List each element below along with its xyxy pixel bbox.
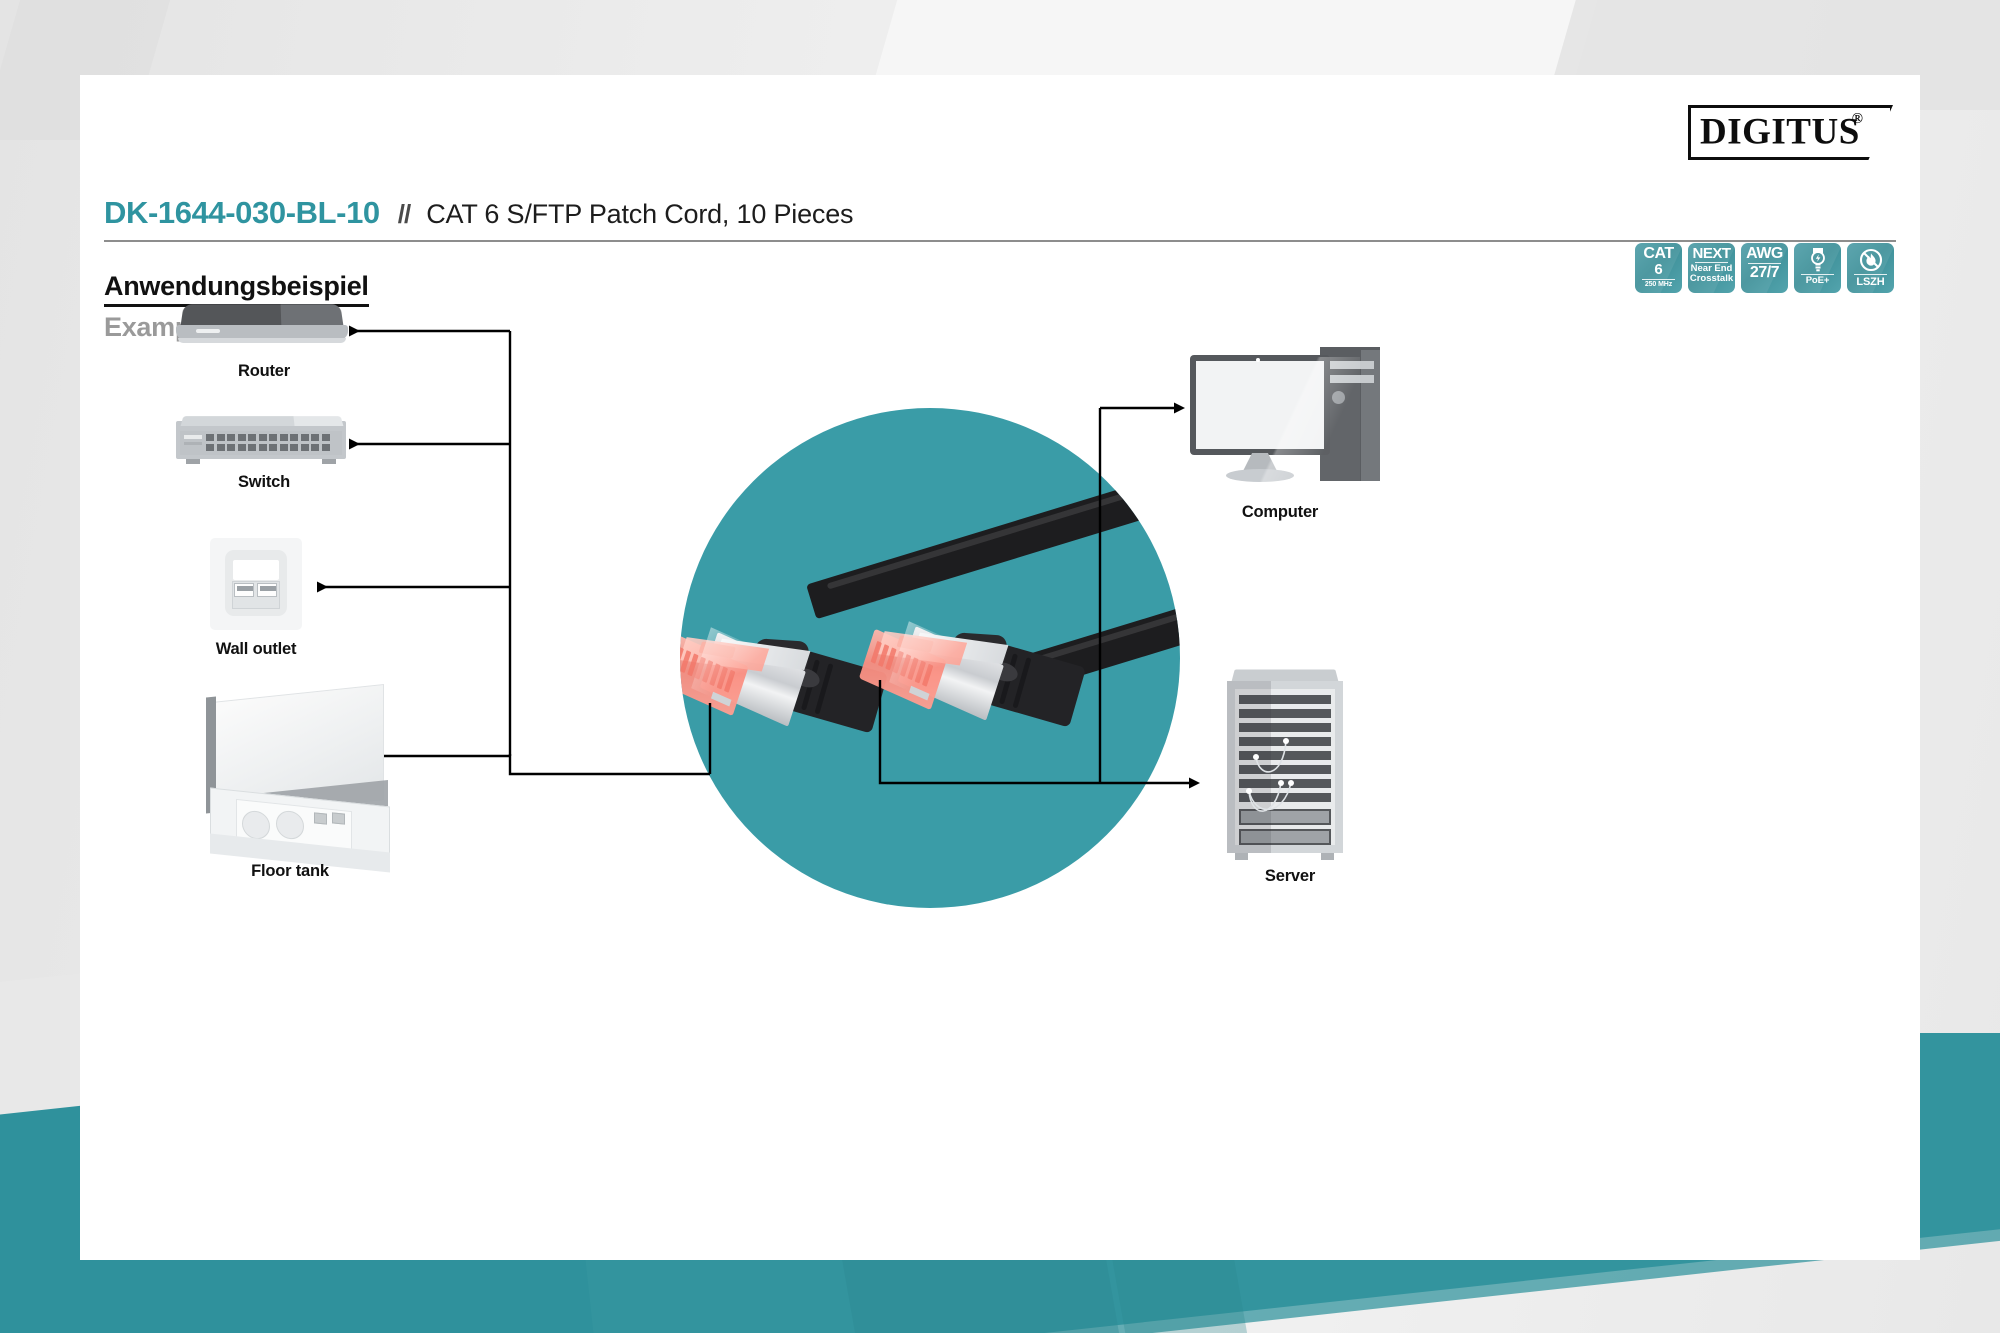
switch-label: Switch [176,473,352,492]
document-page: DIGITUS ® DK-1644-030-BL-10 // CAT 6 S/F… [80,75,1920,1260]
connection-lines [80,75,1920,1260]
computer-label: Computer [1170,503,1390,522]
server-patch-cables [1225,667,1347,863]
line-left-trunk [510,331,710,774]
server-icon [1225,667,1347,863]
floor-tank-icon [190,693,410,873]
router-label: Router [176,362,352,381]
wall-outlet-label: Wall outlet [176,640,336,659]
server-label: Server [1190,867,1390,886]
switch-icon [176,415,352,467]
wall-outlet-icon [210,538,302,630]
line-plug-right-drop [880,680,1100,783]
computer-icon [1190,347,1390,487]
floor-tank-label: Floor tank [190,862,390,881]
application-diagram: Router Switch [80,75,1920,1260]
router-icon [176,303,352,349]
